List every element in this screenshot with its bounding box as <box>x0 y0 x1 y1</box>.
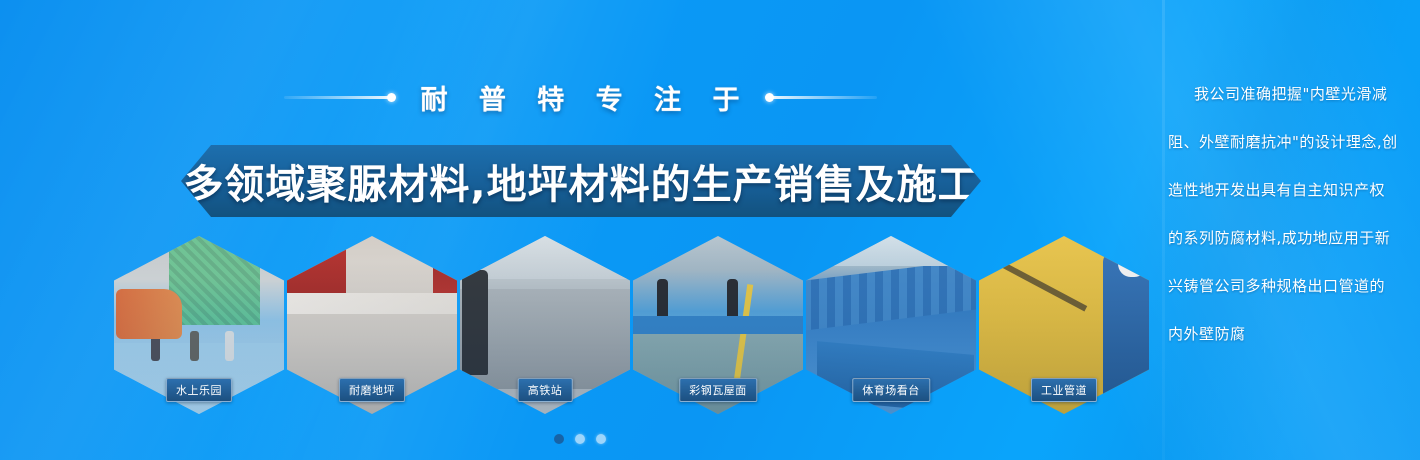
showcase-hexagon-row: 水上乐园 耐磨地坪 高铁站 <box>114 236 1154 414</box>
showcase-label: 体育场看台 <box>852 378 930 402</box>
decorative-rule-left <box>284 96 394 99</box>
showcase-item[interactable]: 体育场看台 <box>806 236 976 414</box>
rule-dot-icon <box>387 93 396 102</box>
eyebrow-row: 耐 普 特 专 注 于 <box>0 78 1160 116</box>
decorative-rule-right <box>767 96 877 99</box>
side-description-line: 内外壁防腐 <box>1168 310 1392 358</box>
carousel-dot-2[interactable] <box>575 434 585 444</box>
side-description-line: 造性地开发出具有自主知识产权 <box>1168 166 1392 214</box>
showcase-item[interactable]: 彩钢瓦屋面 <box>633 236 803 414</box>
side-description-line: 的系列防腐材料,成功地应用于新 <box>1168 214 1392 262</box>
side-description-line: 我公司准确把握"内壁光滑减 <box>1168 70 1392 118</box>
rule-dot-icon <box>765 93 774 102</box>
hero-banner: 耐 普 特 专 注 于 多领域聚脲材料,地坪材料的生产销售及施工 <box>0 0 1420 460</box>
showcase-label: 水上乐园 <box>166 378 232 402</box>
side-description: 我公司准确把握"内壁光滑减 阻、外壁耐磨抗冲"的设计理念,创 造性地开发出具有自… <box>1168 70 1392 400</box>
showcase-label: 工业管道 <box>1031 378 1097 402</box>
side-description-line: 兴铸管公司多种规格出口管道的 <box>1168 262 1392 310</box>
side-description-line: 阻、外壁耐磨抗冲"的设计理念,创 <box>1168 118 1392 166</box>
page-title: 多领域聚脲材料,地坪材料的生产销售及施工 <box>183 152 978 210</box>
eyebrow-text: 耐 普 特 专 注 于 <box>410 78 751 117</box>
panel-divider <box>1162 0 1165 460</box>
showcase-item[interactable]: 耐磨地坪 <box>287 236 457 414</box>
showcase-label: 高铁站 <box>518 378 573 402</box>
showcase-item[interactable]: 工业管道 <box>979 236 1149 414</box>
showcase-label: 耐磨地坪 <box>339 378 405 402</box>
carousel-dot-3[interactable] <box>596 434 606 444</box>
showcase-label: 彩钢瓦屋面 <box>679 378 757 402</box>
carousel-dots <box>0 434 1160 444</box>
carousel-dot-1[interactable] <box>554 434 564 444</box>
showcase-item[interactable]: 水上乐园 <box>114 236 284 414</box>
headline-plate: 多领域聚脲材料,地坪材料的生产销售及施工 <box>181 145 981 217</box>
showcase-item[interactable]: 高铁站 <box>460 236 630 414</box>
